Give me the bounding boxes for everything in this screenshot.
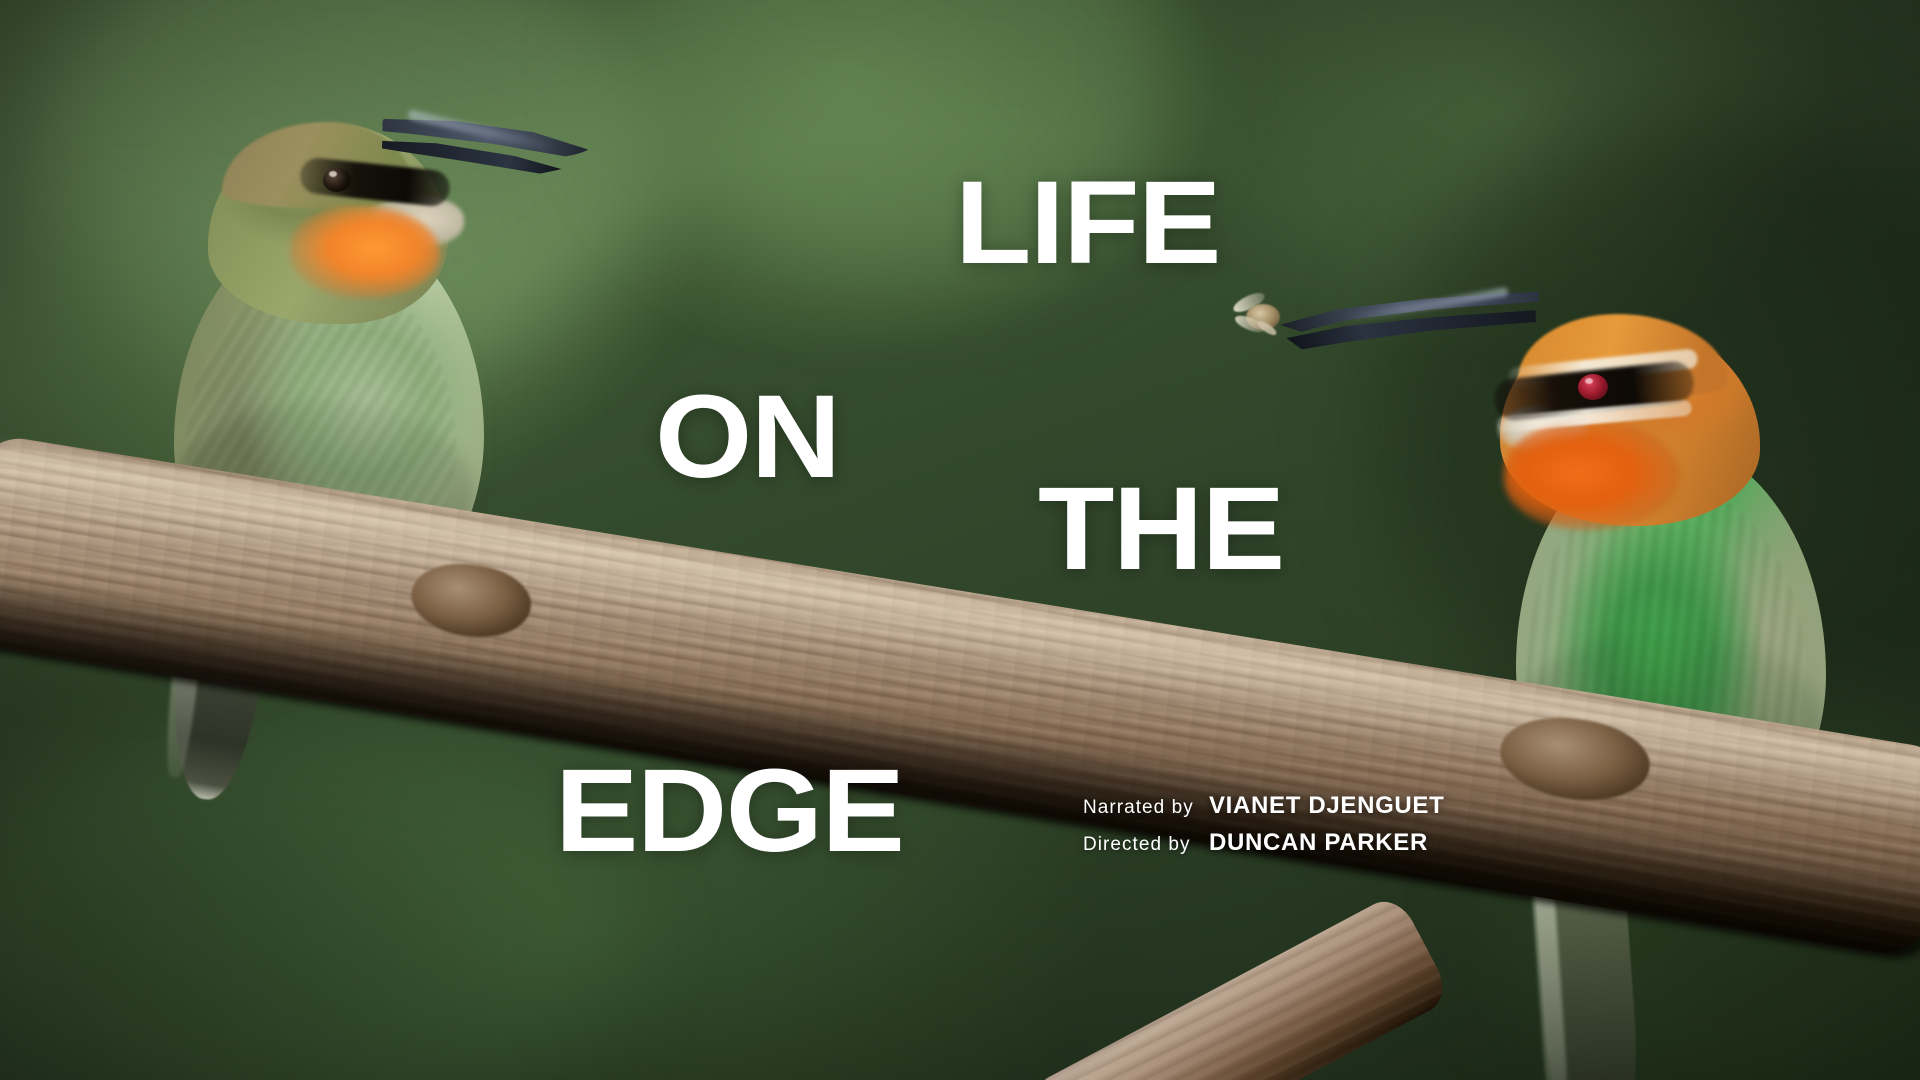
right-bird-eye (1578, 374, 1608, 400)
left-bird-eye (323, 168, 351, 192)
left-bird-beak (382, 118, 593, 178)
right-bird-eye-glint (1585, 378, 1593, 384)
prey-insect (1232, 294, 1298, 342)
left-bird-orange-throat (290, 206, 440, 298)
credits-block: Narrated by VIANET DJENGUET Directed by … (1083, 792, 1444, 866)
credit-label-narrated: Narrated by (1083, 797, 1209, 819)
credit-row-narrated: Narrated by VIANET DJENGUET (1083, 792, 1444, 820)
credit-label-directed: Directed by (1083, 834, 1209, 856)
right-bird-beak (1279, 285, 1541, 360)
left-bird-eye-glint (329, 171, 337, 177)
title-card: LIFE ON THE EDGE Narrated by VIANET DJEN… (0, 0, 1920, 1080)
credit-name-director: DUNCAN PARKER (1209, 829, 1428, 857)
right-bird-orange-throat (1504, 420, 1680, 530)
credit-name-narrator: VIANET DJENGUET (1209, 792, 1444, 820)
credit-row-directed: Directed by DUNCAN PARKER (1083, 829, 1444, 857)
